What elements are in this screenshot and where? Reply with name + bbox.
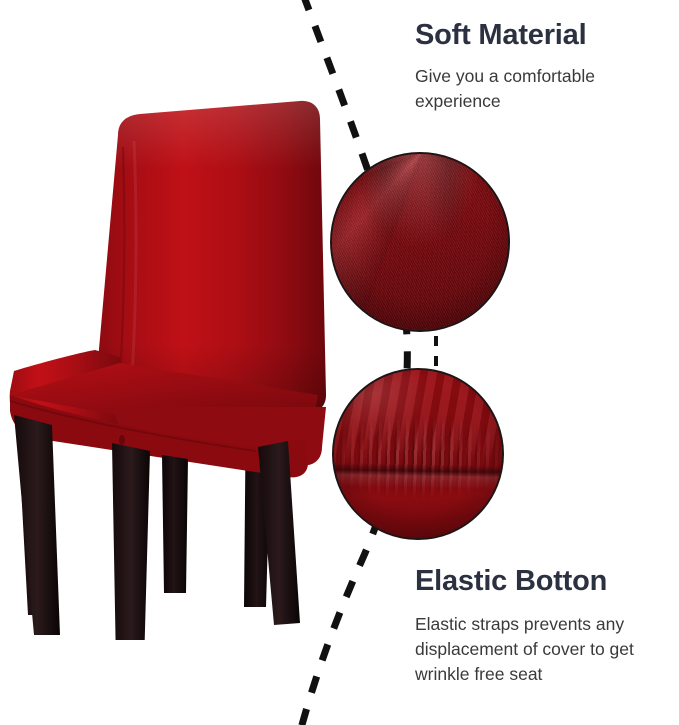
callout-elastic-hem-closeup (332, 368, 504, 540)
feature-description-elastic-botton: Elastic straps prevents any displacement… (415, 612, 665, 687)
callout-vignette (334, 370, 502, 538)
feature-block-soft-material: Soft Material Give you a comfortable exp… (415, 20, 659, 114)
feature-block-elastic-botton: Elastic Botton Elastic straps prevents a… (415, 566, 665, 686)
feature-title-elastic-botton: Elastic Botton (415, 566, 665, 598)
infographic-canvas: Soft Material Give you a comfortable exp… (0, 0, 679, 725)
callout-fabric-weave-closeup (330, 152, 510, 332)
callout-vignette (332, 154, 508, 330)
feature-title-soft-material: Soft Material (415, 20, 659, 52)
feature-description-soft-material: Give you a comfortable experience (415, 64, 659, 114)
product-image-red-dining-chair (0, 95, 330, 640)
